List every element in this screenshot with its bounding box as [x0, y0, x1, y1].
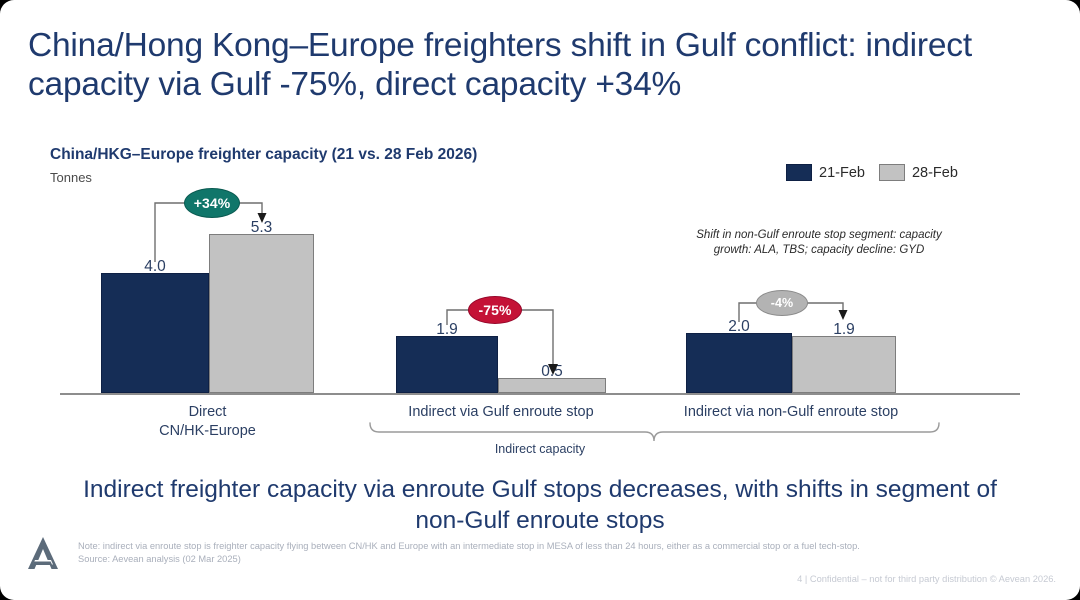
footer-confidential: 4 | Confidential – not for third party d…	[797, 574, 1056, 584]
bar-value-gulf-28feb: 0.5	[498, 363, 606, 381]
bar-value-direct-21feb: 4.0	[101, 258, 209, 276]
group-label-nongulf: Indirect via non-Gulf enroute stop	[666, 403, 916, 422]
bar-gulf-21feb[interactable]	[396, 336, 498, 393]
chart-side-annotation: Shift in non-Gulf enroute stop segment: …	[688, 228, 950, 258]
group-label-gulf: Indirect via Gulf enroute stop	[376, 403, 626, 422]
delta-pill-gulf[interactable]: -75%	[468, 296, 522, 324]
chart-x-axis	[60, 393, 1020, 395]
bar-direct-28feb[interactable]	[209, 234, 314, 393]
delta-pill-nongulf[interactable]: -4%	[756, 290, 808, 316]
footer-note-line: Note: indirect via enroute stop is freig…	[78, 540, 1018, 553]
slide-canvas: China/Hong Kong–Europe freighters shift …	[0, 0, 1080, 600]
footer-source-line: Source: Aevean analysis (02 Mar 2025)	[78, 553, 1018, 566]
group-label-direct-line2: CN/HK-Europe	[159, 423, 256, 439]
takeaway-statement: Indirect freighter capacity via enroute …	[60, 474, 1020, 536]
bar-nongulf-21feb[interactable]	[686, 333, 792, 393]
bar-value-direct-28feb: 5.3	[209, 219, 314, 237]
bar-direct-21feb[interactable]	[101, 273, 209, 393]
group-label-direct: Direct CN/HK-Europe	[101, 403, 314, 441]
bar-value-gulf-21feb: 1.9	[396, 321, 498, 339]
bar-nongulf-28feb[interactable]	[792, 336, 896, 393]
footer-notes: Note: indirect via enroute stop is freig…	[78, 540, 1018, 565]
group-label-direct-line1: Direct	[189, 404, 227, 420]
bar-value-nongulf-21feb: 2.0	[686, 318, 792, 336]
brace-label-indirect-capacity: Indirect capacity	[0, 442, 1080, 456]
bar-value-nongulf-28feb: 1.9	[792, 321, 896, 339]
delta-pill-direct[interactable]: +34%	[184, 188, 240, 218]
aevean-logo-icon	[20, 531, 68, 575]
